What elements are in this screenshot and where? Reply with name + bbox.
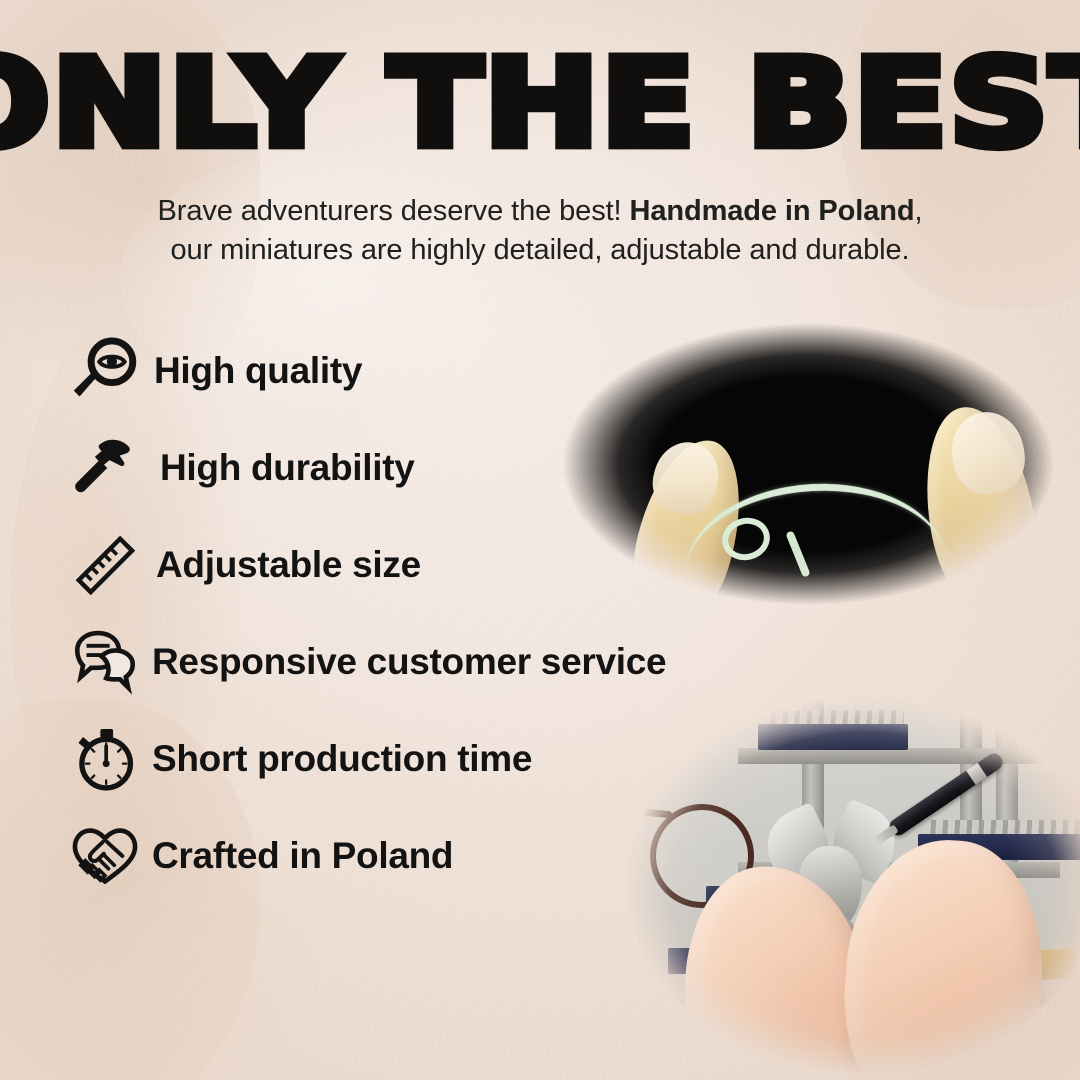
- feature-list: High quality High durability: [62, 322, 802, 904]
- hammer-icon: [62, 430, 148, 506]
- subtitle: Brave adventurers deserve the best! Hand…: [0, 192, 1080, 269]
- subtitle-emphasis: Handmade in Poland: [629, 195, 914, 227]
- feature-label: Crafted in Poland: [152, 835, 453, 877]
- feature-item-responsive-customer-service: Responsive customer service: [62, 613, 802, 710]
- feature-item-adjustable-size: Adjustable size: [62, 516, 802, 613]
- page-title: ONLY THE BEST: [0, 44, 1080, 162]
- speech-bubbles-icon: [62, 624, 148, 700]
- feature-label: Adjustable size: [156, 544, 421, 586]
- feature-item-high-durability: High durability: [62, 419, 802, 516]
- feature-label: High durability: [160, 447, 415, 489]
- feature-item-high-quality: High quality: [62, 322, 802, 419]
- ruler-icon: [62, 527, 148, 603]
- page-title-text: ONLY THE BEST: [0, 43, 1080, 163]
- subtitle-lead: Brave adventurers deserve the best!: [158, 195, 630, 227]
- feature-item-short-production-time: Short production time: [62, 710, 802, 807]
- stopwatch-icon: [62, 721, 148, 797]
- promo-poster: ONLY THE BEST Brave adventurers deserve …: [0, 0, 1080, 1080]
- subtitle-line2: our miniatures are highly detailed, adju…: [171, 234, 910, 266]
- magnifier-eye-icon: [62, 333, 148, 409]
- subtitle-tail: ,: [915, 195, 923, 227]
- handshake-heart-icon: [62, 818, 148, 894]
- feature-label: Short production time: [152, 738, 532, 780]
- feature-item-crafted-in-poland: Crafted in Poland: [62, 807, 802, 904]
- feature-label: High quality: [154, 350, 362, 392]
- feature-label: Responsive customer service: [152, 641, 666, 683]
